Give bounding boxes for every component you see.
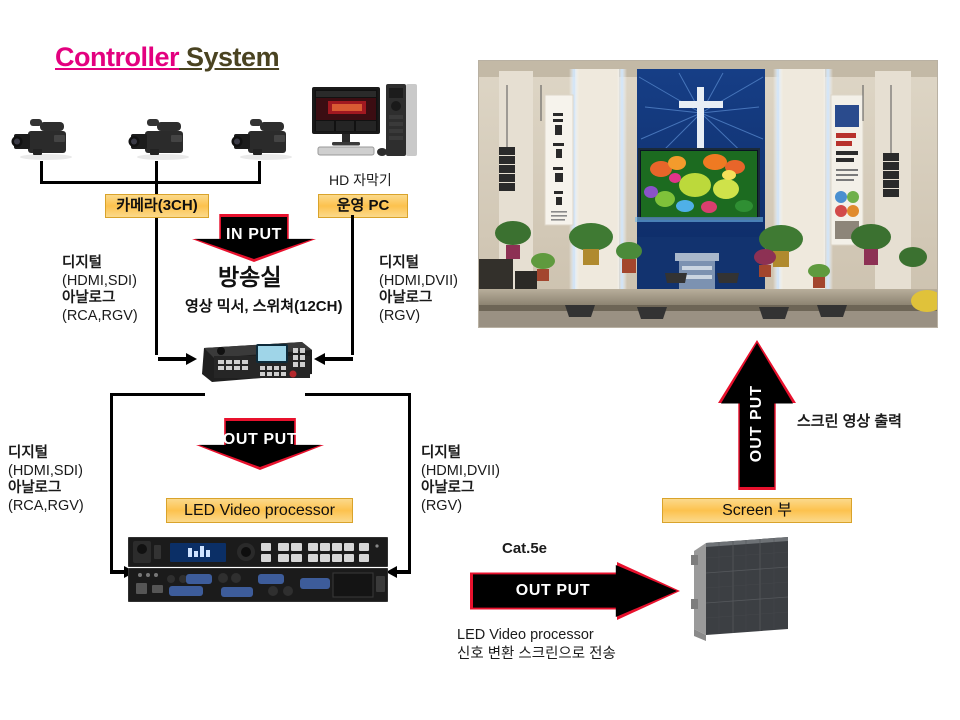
title-part-system: System <box>179 42 279 72</box>
feedback-loop-line-top-left <box>110 393 205 396</box>
screen-unit-label: Screen 부 <box>662 498 852 523</box>
video-camera-icon <box>127 115 193 166</box>
pc-to-mixer-line <box>351 215 354 355</box>
video-mixer-icon <box>198 334 314 391</box>
output-up-arrow: OUT PUT <box>718 340 796 490</box>
digital-label: 디지털 <box>379 255 458 273</box>
processor-note-line2: 신호 변환 스크린으로 전송 <box>457 645 616 664</box>
analog-value: (RGV) <box>379 308 458 326</box>
title-part-controller: Controller <box>55 42 179 72</box>
feedback-loop-line-left <box>110 393 113 572</box>
digital-label: 디지털 <box>62 255 138 273</box>
arrow-head-right-icon <box>158 352 198 371</box>
analog-label: 아날로그 <box>8 480 84 498</box>
input-arrow-label: IN PUT <box>226 226 282 244</box>
digital-value: (HDMI,DVII) <box>379 273 458 291</box>
processor-note-line1: LED Video processor <box>457 626 616 645</box>
signal-info-top-left: 디지털 (HDMI,SDI) 아날로그 (RCA,RGV) <box>62 255 138 325</box>
operating-pc-label: 운영 PC <box>318 194 408 218</box>
rack-unit-front-icon <box>128 537 388 572</box>
analog-label: 아날로그 <box>421 480 500 498</box>
feedback-loop-line-right <box>408 393 411 572</box>
analog-value: (RGV) <box>421 498 500 516</box>
digital-label: 디지털 <box>8 445 84 463</box>
pc-caption: HD 자막기 <box>329 170 392 190</box>
camera-drop-line <box>258 161 261 183</box>
cable-type-label: Cat.5e <box>502 540 547 557</box>
arrow-head-left-icon <box>313 352 353 371</box>
processor-note: LED Video processor 신호 변환 스크린으로 전송 <box>457 626 616 664</box>
screen-output-note: 스크린 영상 출력 <box>797 410 902 431</box>
rack-unit-rear-icon <box>128 568 388 607</box>
digital-label: 디지털 <box>421 445 500 463</box>
output-down-arrow: OUT PUT <box>196 418 324 470</box>
camera-drop-line <box>40 161 43 183</box>
analog-value: (RCA,RGV) <box>8 498 84 516</box>
page-title: Controller System <box>55 42 279 73</box>
digital-value: (HDMI,DVII) <box>421 463 500 481</box>
desktop-computer-icon <box>312 82 418 172</box>
output-down-arrow-label: OUT PUT <box>223 431 297 449</box>
digital-value: (HDMI,SDI) <box>8 463 84 481</box>
broadcast-room-title: 방송실 <box>218 258 281 292</box>
camera-drop-line <box>155 161 158 183</box>
input-arrow: IN PUT <box>192 214 316 262</box>
led-video-processor-label: LED Video processor <box>166 498 353 523</box>
output-right-arrow: OUT PUT <box>470 562 680 620</box>
video-camera-icon <box>230 115 296 166</box>
broadcast-room-subtitle: 영상 믹서, 스위쳐(12CH) <box>185 295 342 316</box>
church-sanctuary-photo <box>478 60 938 328</box>
signal-info-bottom-right: 디지털 (HDMI,DVII) 아날로그 (RGV) <box>421 445 500 515</box>
arrow-head-left-icon <box>385 565 411 584</box>
output-right-arrow-label: OUT PUT <box>516 582 590 600</box>
output-up-arrow-label: OUT PUT <box>748 385 766 462</box>
video-camera-icon <box>10 115 76 166</box>
signal-info-top-right: 디지털 (HDMI,DVII) 아날로그 (RGV) <box>379 255 458 325</box>
feedback-loop-line-top-right <box>305 393 411 396</box>
camera-bus-line <box>40 181 261 184</box>
analog-label: 아날로그 <box>379 290 458 308</box>
digital-value: (HDMI,SDI) <box>62 273 138 291</box>
analog-value: (RCA,RGV) <box>62 308 138 326</box>
led-panel-icon <box>686 537 790 647</box>
analog-label: 아날로그 <box>62 290 138 308</box>
signal-info-bottom-left: 디지털 (HDMI,SDI) 아날로그 (RCA,RGV) <box>8 445 84 515</box>
